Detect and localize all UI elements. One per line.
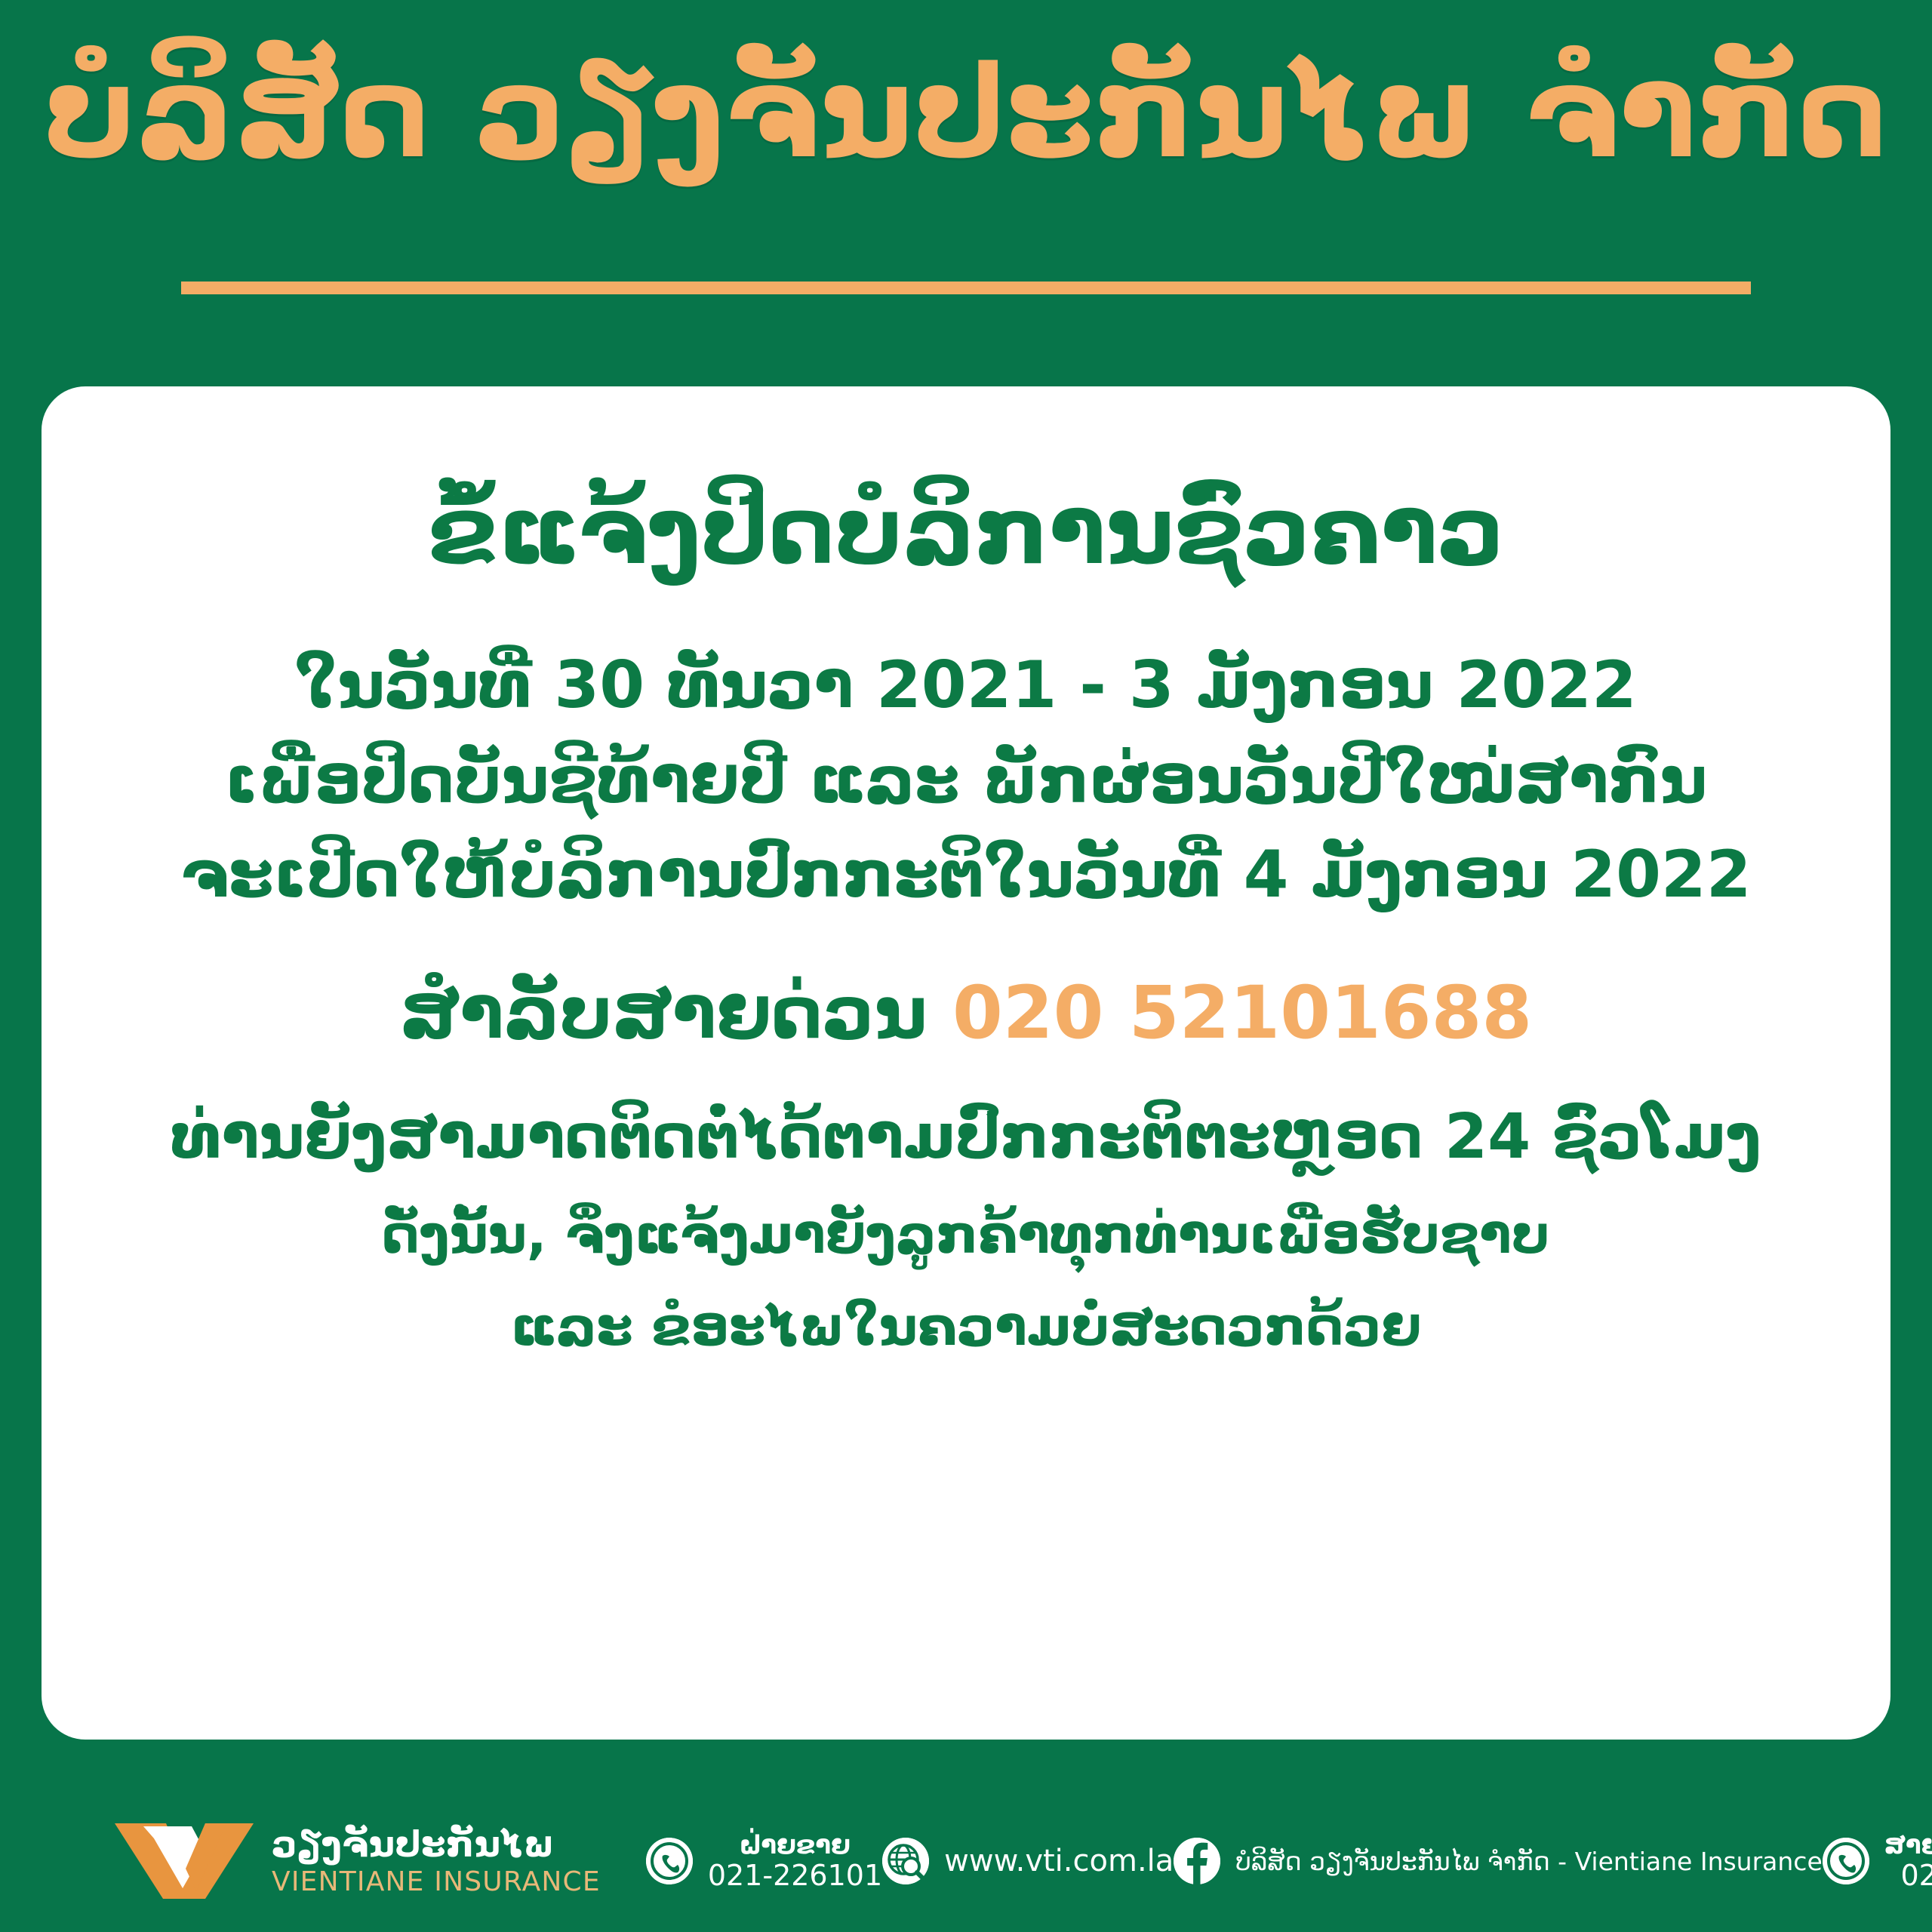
logo-english-name: VIENTIANE INSURANCE bbox=[272, 1869, 601, 1896]
poster-header: ບໍລິສັດ ວຽງຈັນປະກັນໄພ ຈຳກັດ bbox=[0, 0, 1932, 317]
notice-dates-block: ໃນວັນທີ່ 30 ທັນວາ 2021 - 3 ມັງກອນ 2022 ເ… bbox=[180, 644, 1751, 918]
poster-canvas: ບໍລິສັດ ວຽງຈັນປະກັນໄພ ຈຳກັດ ຂໍ້ແຈ້ງປິດບໍ… bbox=[0, 0, 1932, 1932]
notice-line-closure-dates: ໃນວັນທີ່ 30 ທັນວາ 2021 - 3 ມັງກອນ 2022 bbox=[295, 644, 1637, 728]
contact-hotline[interactable]: ສາຍດ່ວນ 24 ຊົ່ວໂມງ 020 5210 1688 bbox=[1823, 1831, 1932, 1892]
contact-hotline-label: ສາຍດ່ວນ 24 ຊົ່ວໂມງ bbox=[1884, 1831, 1932, 1860]
facebook-icon bbox=[1174, 1838, 1220, 1884]
notice-contact-block: ທ່ານຍັງສາມາດຕິດຕໍ່ໄດ້ຕາມປົກກະຕິຕະຫຼອດ 24… bbox=[171, 1097, 1761, 1363]
hotline-row: ສຳລັບສາຍດ່ວນ 020 52101688 bbox=[400, 968, 1532, 1058]
company-logo: ວຽງຈັນປະກັນໄພ VIENTIANE INSURANCE bbox=[113, 1822, 601, 1900]
header-underline-bar bbox=[181, 281, 1751, 294]
contact-website-url: www.vti.com.la bbox=[944, 1844, 1174, 1878]
contact-facebook-page: ບໍລິສັດ ວຽງຈັນປະກັນໄພ ຈຳກັດ - Vientiane … bbox=[1235, 1847, 1822, 1876]
logo-lao-name: ວຽງຈັນປະກັນໄພ bbox=[272, 1827, 601, 1863]
contact-sales-label: ຝ່າຍຂາຍ bbox=[708, 1831, 882, 1860]
contact-facebook[interactable]: ບໍລິສັດ ວຽງຈັນປະກັນໄພ ຈຳກັດ - Vientiane … bbox=[1174, 1838, 1822, 1884]
logo-wordmark: ວຽງຈັນປະກັນໄພ VIENTIANE INSURANCE bbox=[272, 1827, 601, 1896]
hotline-label: ສຳລັບສາຍດ່ວນ bbox=[400, 971, 928, 1055]
notice-line-reopen: ຈະເປີດໃຫ້ບໍລິການປົກກະຕິໃນວັນທີ່ 4 ມັງກອນ… bbox=[180, 833, 1751, 918]
footer-contacts: ຝ່າຍຂາຍ 021-226101 bbox=[601, 1831, 1932, 1892]
notice-line-reason: ເພື່ອປິດບັນຊີທ້າຍປີ ແລະ ພັກຜ່ອນວັນປີໃໝ່ສ… bbox=[225, 739, 1707, 823]
vti-chevron-logo-icon bbox=[113, 1822, 255, 1900]
contact-website[interactable]: www.vti.com.la bbox=[882, 1838, 1174, 1884]
contact-sales-text: ຝ່າຍຂາຍ 021-226101 bbox=[708, 1831, 882, 1892]
notice-line-24h: ທ່ານຍັງສາມາດຕິດຕໍ່ໄດ້ຕາມປົກກະຕິຕະຫຼອດ 24… bbox=[171, 1097, 1761, 1178]
hotline-number[interactable]: 020 52101688 bbox=[952, 971, 1532, 1055]
poster-footer: ວຽງຈັນປະກັນໄພ VIENTIANE INSURANCE ຝ່າຍຂາ… bbox=[0, 1790, 1932, 1932]
notice-card: ຂໍ້ແຈ້ງປິດບໍລິການຊົ່ວຄາວ ໃນວັນທີ່ 30 ທັນ… bbox=[42, 386, 1890, 1740]
phone-icon bbox=[1823, 1838, 1869, 1884]
notice-line-apology: ແລະ ຂໍອະໄພໃນຄວາມບໍ່ສະດວກດ້ວຍ bbox=[510, 1291, 1421, 1363]
contact-sales-number: 021-226101 bbox=[708, 1860, 882, 1892]
notice-line-announce: ດັ່ງນັ້ນ, ຈຶ່ງແຈ້ງມາຍັງລູກຄ້າທຸກທ່ານເພື່… bbox=[382, 1199, 1549, 1271]
globe-search-icon bbox=[882, 1838, 929, 1884]
notice-heading: ຂໍ້ແຈ້ງປິດບໍລິການຊົ່ວຄາວ bbox=[428, 475, 1505, 588]
company-title: ບໍລິສັດ ວຽງຈັນປະກັນໄພ ຈຳກັດ bbox=[44, 39, 1888, 186]
contact-hotline-text: ສາຍດ່ວນ 24 ຊົ່ວໂມງ 020 5210 1688 bbox=[1884, 1831, 1932, 1892]
phone-icon bbox=[646, 1838, 693, 1884]
contact-hotline-number: 020 5210 1688 bbox=[1884, 1860, 1932, 1892]
contact-sales[interactable]: ຝ່າຍຂາຍ 021-226101 bbox=[646, 1831, 882, 1892]
